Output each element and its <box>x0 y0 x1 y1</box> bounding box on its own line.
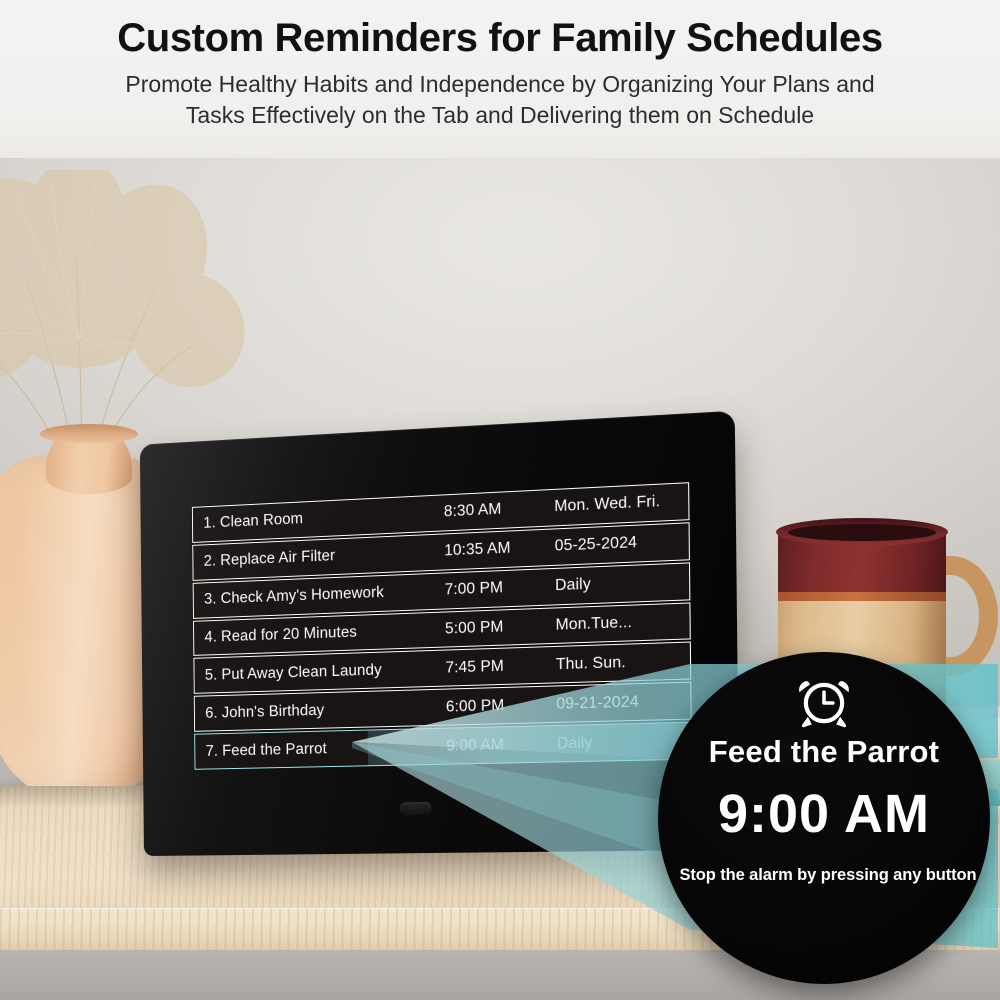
schedule-time: 9:00 AM <box>446 735 557 756</box>
schedule-repeat: Mon. Wed. Fri. <box>554 492 688 517</box>
alarm-hint-text: Stop the alarm by pressing any button <box>658 866 990 885</box>
schedule-task: 5. Put Away Clean Laundy <box>194 659 445 684</box>
alarm-popup[interactable]: Feed the Parrot 9:00 AM Stop the alarm b… <box>658 652 990 984</box>
page-title: Custom Reminders for Family Schedules <box>117 16 882 61</box>
header-banner: Custom Reminders for Family Schedules Pr… <box>0 0 1000 158</box>
schedule-task: 1. Clean Room <box>193 504 444 534</box>
schedule-task: 7. Feed the Parrot <box>195 737 446 760</box>
schedule-list[interactable]: 1. Clean Room8:30 AMMon. Wed. Fri.2. Rep… <box>191 481 694 772</box>
schedule-repeat: 05-25-2024 <box>555 532 689 556</box>
mug-stripe <box>778 592 946 601</box>
alarm-time: 9:00 AM <box>718 786 930 843</box>
reminder-tablet-device[interactable]: 1. Clean Room8:30 AMMon. Wed. Fri.2. Rep… <box>140 411 740 856</box>
subtitle-line-1: Promote Healthy Habits and Independence … <box>125 69 874 100</box>
schedule-time: 8:30 AM <box>444 498 555 521</box>
schedule-time: 7:00 PM <box>445 577 556 599</box>
schedule-repeat: 09-21-2024 <box>556 692 690 714</box>
schedule-time: 5:00 PM <box>445 617 556 639</box>
schedule-time: 7:45 PM <box>445 656 556 678</box>
alarm-title: Feed the Parrot <box>709 736 939 769</box>
device-screen[interactable]: 1. Clean Room8:30 AMMon. Wed. Fri.2. Rep… <box>191 481 694 772</box>
schedule-repeat: Mon.Tue... <box>555 612 689 635</box>
device-power-button[interactable] <box>400 802 432 815</box>
alarm-clock-icon <box>798 678 850 728</box>
product-scene: 1. Clean Room8:30 AMMon. Wed. Fri.2. Rep… <box>0 0 1000 1000</box>
schedule-repeat: Thu. Sun. <box>556 652 690 674</box>
schedule-repeat: Daily <box>555 572 689 596</box>
schedule-time: 6:00 PM <box>446 695 557 716</box>
schedule-time: 10:35 AM <box>444 538 555 561</box>
subtitle-line-2: Tasks Effectively on the Tab and Deliver… <box>125 100 874 131</box>
schedule-task: 6. John's Birthday <box>195 698 446 722</box>
vase-lip <box>40 424 138 444</box>
page-subtitle: Promote Healthy Habits and Independence … <box>125 69 874 131</box>
schedule-repeat: Daily <box>557 732 691 753</box>
schedule-task: 2. Replace Air Filter <box>193 543 444 572</box>
mug-interior <box>788 524 936 541</box>
schedule-task: 4. Read for 20 Minutes <box>194 621 445 648</box>
schedule-task: 3. Check Amy's Homework <box>194 582 445 610</box>
